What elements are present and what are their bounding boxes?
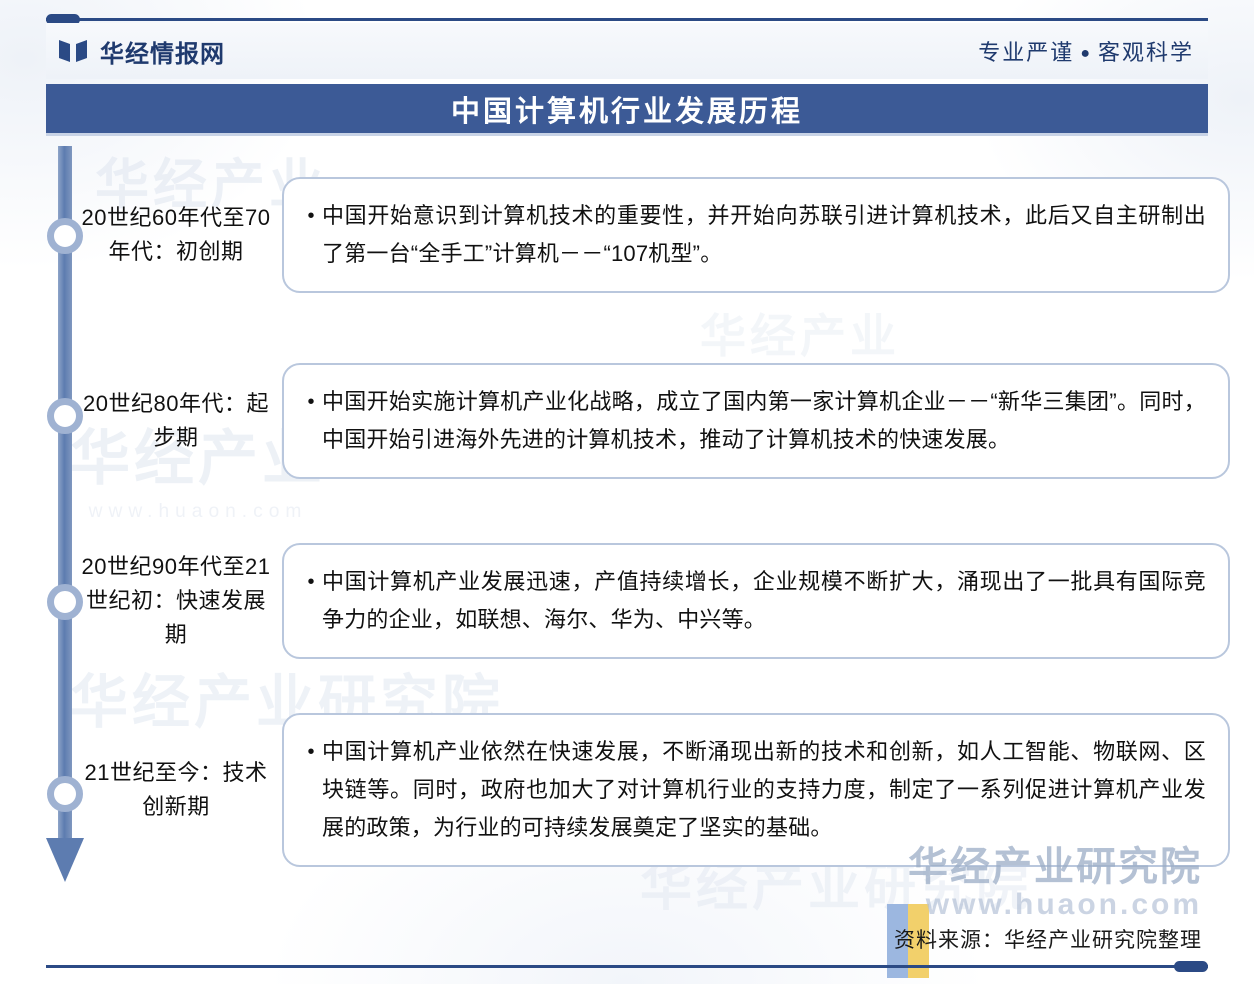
poster-page: 华经产业 华经产业 www.huaon.com 华经产业研究院 华经产业研究院 … bbox=[0, 0, 1254, 984]
bullet-icon: • bbox=[300, 733, 322, 771]
stage-label: 21世纪至今：技术创新期 bbox=[70, 756, 282, 824]
tagline-left: 专业严谨 bbox=[978, 40, 1074, 65]
stage-description: 中国开始实施计算机产业化战略，成立了国内第一家计算机企业－－“新华三集团”。同时… bbox=[322, 383, 1206, 459]
stage-description: 中国计算机产业发展迅速，产值持续增长，企业规模不断扩大，涌现出了一批具有国际竞争… bbox=[322, 563, 1206, 639]
stage-card: • 中国开始实施计算机产业化战略，成立了国内第一家计算机企业－－“新华三集团”。… bbox=[282, 363, 1230, 479]
brand-name: 华经情报网 bbox=[100, 34, 225, 69]
page-header: 华经情报网 专业严谨●客观科学 bbox=[46, 23, 1208, 79]
top-divider-rule bbox=[46, 18, 1208, 21]
stage-description: 中国计算机产业依然在快速发展，不断涌现出新的技术和创新，如人工智能、物联网、区块… bbox=[322, 733, 1206, 847]
brand: 华经情报网 bbox=[58, 34, 225, 69]
huajing-book-logo-icon bbox=[58, 38, 88, 64]
rule-end-tab bbox=[1174, 961, 1208, 972]
title-bar: 中国计算机行业发展历程 bbox=[46, 84, 1208, 136]
stage-description: 中国开始意识到计算机技术的重要性，并开始向苏联引进计算机技术，此后又自主研制出了… bbox=[322, 197, 1206, 273]
stage-card: • 中国开始意识到计算机技术的重要性，并开始向苏联引进计算机技术，此后又自主研制… bbox=[282, 177, 1230, 293]
bullet-icon: • bbox=[300, 197, 322, 235]
timeline-stage-row: 20世纪80年代：起步期 • 中国开始实施计算机产业化战略，成立了国内第一家计算… bbox=[70, 336, 1230, 506]
header-tagline: 专业严谨●客观科学 bbox=[978, 35, 1194, 67]
tagline-right: 客观科学 bbox=[1098, 40, 1194, 65]
stage-label: 20世纪90年代至21世纪初：快速发展期 bbox=[70, 550, 282, 652]
stage-label: 20世纪80年代：起步期 bbox=[70, 387, 282, 455]
watermark-url: www.huaon.com bbox=[908, 888, 1202, 922]
timeline-stage-row: 20世纪60年代至70年代：初创期 • 中国开始意识到计算机技术的重要性，并开始… bbox=[70, 147, 1230, 323]
tagline-dot-icon: ● bbox=[1080, 45, 1092, 62]
page-title: 中国计算机行业发展历程 bbox=[451, 88, 803, 130]
timeline-stage-row: 20世纪90年代至21世纪初：快速发展期 • 中国计算机产业发展迅速，产值持续增… bbox=[70, 522, 1230, 680]
source-note: 资料来源：华经产业研究院整理 bbox=[894, 924, 1202, 954]
timeline-stage-row: 21世纪至今：技术创新期 • 中国计算机产业依然在快速发展，不断涌现出新的技术和… bbox=[70, 700, 1230, 880]
bullet-icon: • bbox=[300, 383, 322, 421]
bottom-divider-rule bbox=[46, 965, 1208, 968]
stage-card: • 中国计算机产业发展迅速，产值持续增长，企业规模不断扩大，涌现出了一批具有国际… bbox=[282, 543, 1230, 659]
stage-card: • 中国计算机产业依然在快速发展，不断涌现出新的技术和创新，如人工智能、物联网、… bbox=[282, 713, 1230, 867]
bullet-icon: • bbox=[300, 563, 322, 601]
stage-label: 20世纪60年代至70年代：初创期 bbox=[70, 201, 282, 269]
